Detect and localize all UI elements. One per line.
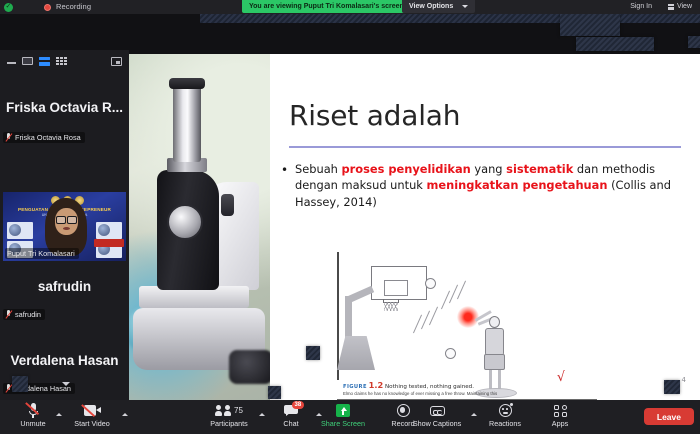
basketball-figure: √ FIGURE 1.2 Nothing tested, nothing gai… — [337, 252, 597, 400]
render-artifact-block — [306, 346, 320, 360]
participants-video-panel: Friska Octavia R... Friska Octavia Rosa … — [0, 50, 129, 350]
bullet-highlight-3: meningkatkan pengetahuan — [427, 178, 608, 192]
bullet-highlight-1: proses penyelidikan — [342, 162, 471, 176]
recording-label: Recording — [56, 2, 91, 11]
hoop-base — [337, 336, 375, 370]
render-artifact-block — [688, 36, 700, 48]
zoom-meeting-window: Recording You are viewing Puput Tri Koma… — [0, 0, 700, 434]
participant-nametag: Puput Tri Komalasari — [5, 248, 79, 259]
view-label: View — [677, 3, 692, 10]
bullet-highlight-2: sistematik — [506, 162, 573, 176]
microphone-muted-icon — [28, 403, 39, 418]
show-captions-button[interactable]: Show Captions — [404, 403, 470, 428]
figure-caption-title: Nothing tested, nothing gained. — [385, 384, 474, 390]
leave-label: Leave — [657, 412, 681, 422]
chevron-down-icon[interactable] — [62, 382, 70, 386]
closed-captions-icon — [430, 406, 445, 416]
apps-icon — [554, 405, 567, 417]
meeting-toolbar: Unmute Start Video 75 Participants 38 — [0, 400, 700, 434]
panel-view-controls — [0, 50, 129, 72]
popout-icon[interactable] — [111, 57, 122, 66]
viewing-screen-banner: You are viewing Puput Tri Komalasari's s… — [242, 0, 411, 13]
player-head — [489, 316, 500, 328]
participant-tile[interactable]: safrudin safrudin — [0, 261, 129, 327]
participant-video-tile[interactable]: PENGUATAN RISET & ENTREPRENEUR UNIVERSIT… — [3, 192, 126, 261]
participants-icon — [215, 405, 231, 416]
participant-display-name: safrudin — [0, 279, 129, 294]
share-screen-label: Share Screen — [310, 419, 376, 428]
sign-in-button[interactable]: Sign In — [626, 2, 656, 11]
participant-display-name: Friska Octavia R... — [0, 100, 129, 115]
participants-count: 75 — [234, 406, 243, 415]
single-view-icon[interactable] — [22, 57, 33, 65]
participant-nametag-label: Puput Tri Komalasari — [7, 249, 75, 258]
participant-nametag-label: safrudin — [15, 310, 41, 319]
figure-label: FIGURE — [343, 384, 367, 390]
microphone-muted-icon — [5, 310, 12, 319]
minimize-icon[interactable] — [7, 59, 16, 64]
participants-button[interactable]: 75 Participants — [196, 403, 262, 428]
leave-button[interactable]: Leave — [644, 408, 694, 425]
view-button[interactable]: View — [664, 2, 696, 11]
start-video-button[interactable]: Start Video — [59, 403, 125, 428]
view-options-button[interactable]: View Options — [402, 0, 475, 13]
grid-view-icon — [668, 4, 674, 10]
backboard-icon — [371, 266, 427, 300]
speaker-view-icon[interactable] — [39, 57, 50, 66]
shield-check-icon[interactable] — [4, 3, 13, 12]
microphone-muted-icon — [5, 384, 12, 393]
basketball-upper-icon — [425, 278, 436, 289]
slide-bullet-block: • Sebuah proses penyelidikan yang sistem… — [281, 161, 686, 210]
reactions-icon — [499, 404, 512, 417]
chevron-down-icon — [462, 5, 468, 8]
render-artifact-block — [12, 376, 28, 392]
show-captions-label: Show Captions — [404, 419, 470, 428]
chat-icon: 38 — [284, 405, 298, 416]
bullet-part-1: Sebuah — [295, 162, 342, 176]
figure-number: 1.2 — [369, 380, 384, 390]
start-video-label: Start Video — [59, 419, 125, 428]
render-artifact-block — [664, 380, 680, 394]
slide-title: Riset adalah — [289, 99, 460, 132]
camera-muted-icon — [84, 405, 101, 416]
participant-tile[interactable]: Friska Octavia R... Friska Octavia Rosa — [0, 72, 129, 192]
screenshare-artifact-strip — [200, 14, 700, 23]
slide-page-number: 4 — [682, 376, 686, 384]
gallery-view-icon[interactable] — [56, 57, 67, 66]
apps-button[interactable]: Apps — [527, 403, 593, 428]
sign-in-label: Sign In — [630, 3, 652, 10]
microscope-photo — [129, 54, 270, 400]
chevron-up-icon[interactable] — [122, 413, 128, 416]
hoop-pole — [345, 296, 352, 340]
player-shorts — [484, 354, 505, 370]
render-artifact-block — [576, 37, 654, 51]
recording-dot-icon — [44, 4, 51, 11]
bullet-part-2: yang — [471, 162, 506, 176]
microphone-muted-icon — [5, 133, 12, 142]
meeting-top-bar: Recording You are viewing Puput Tri Koma… — [0, 0, 700, 14]
participant-nametag-label: Friska Octavia Rosa — [15, 133, 81, 142]
participant-nametag: safrudin — [3, 309, 45, 320]
render-artifact-block — [560, 14, 620, 36]
title-underline-rule — [289, 146, 681, 148]
apps-label: Apps — [527, 419, 593, 428]
bullet-marker: • — [281, 162, 288, 178]
figure-caption-line-1: Elmo claims he has no knowledge of ever … — [343, 391, 597, 397]
participant-display-name: Verdalena Hasan — [0, 353, 129, 368]
net-icon — [384, 302, 398, 311]
red-highlight-glow — [457, 306, 479, 328]
viewing-screen-text: You are viewing Puput Tri Komalasari's s… — [249, 3, 404, 10]
player-body — [485, 328, 504, 356]
chat-unread-badge: 38 — [292, 401, 304, 409]
basketball-lower-icon — [445, 348, 456, 359]
share-screen-icon — [336, 404, 350, 417]
bullet-text: Sebuah proses penyelidikan yang sistemat… — [295, 161, 686, 210]
share-screen-button[interactable]: Share Screen — [310, 403, 376, 428]
render-artifact-block — [268, 386, 281, 399]
view-options-label: View Options — [409, 3, 453, 10]
presentation-slide: Riset adalah • Sebuah proses penyelidika… — [129, 54, 700, 400]
unmute-label: Unmute — [0, 419, 66, 428]
unmute-button[interactable]: Unmute — [0, 403, 66, 428]
participant-nametag: Friska Octavia Rosa — [3, 132, 85, 143]
participants-label: Participants — [196, 419, 262, 428]
